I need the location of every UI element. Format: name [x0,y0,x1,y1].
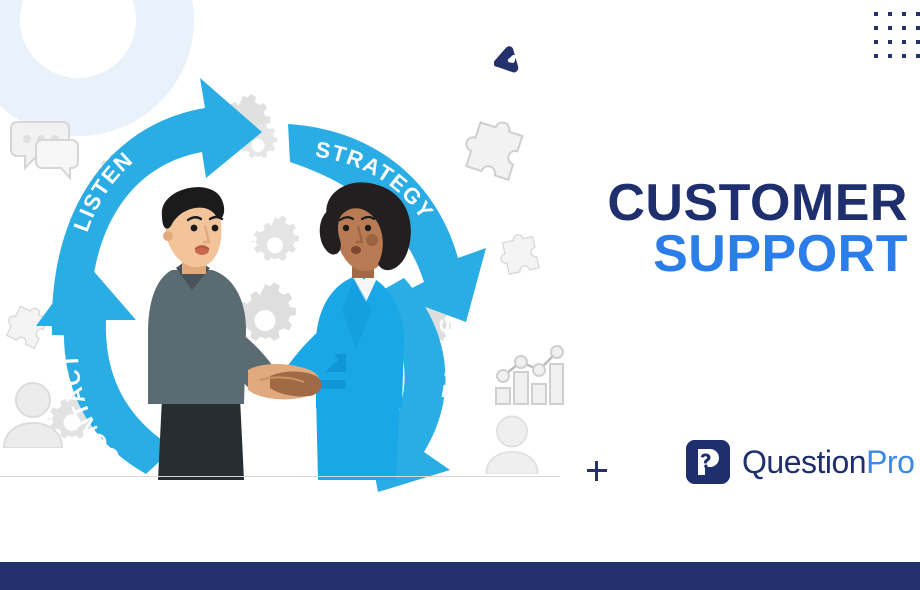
poster-canvas: LISTEN STRATEGY SOLVE CONTACT [0,0,920,590]
page-title-line-1: CUSTOMER [578,178,908,229]
logo-word-pro: Pro [866,444,914,480]
page-title-line-2: SUPPORT [578,229,908,280]
plus-decoration [587,461,607,481]
bottom-bar [0,562,920,590]
dot-grid-decoration [874,12,920,68]
man-figure [148,187,278,480]
questionpro-logo[interactable]: QuestionPro [686,440,914,484]
ground-line [0,476,560,477]
logo-word-question: Question [742,444,866,480]
logo-wordmark: QuestionPro [742,444,914,481]
page-title: CUSTOMER SUPPORT [578,178,908,280]
logo-mark-icon [686,440,730,484]
woman-figure [282,182,411,480]
handshake-illustration [120,180,450,480]
